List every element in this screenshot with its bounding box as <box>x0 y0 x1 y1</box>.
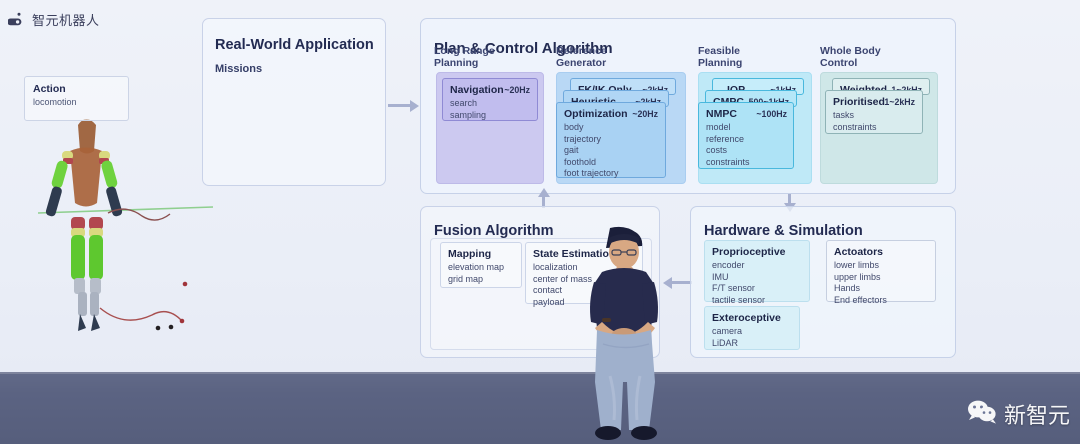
presentation-screenshot: 智元机器人 <box>0 0 1080 444</box>
arrow-realworld-to-plan-tip <box>410 100 419 112</box>
watermark-text: 新智元 <box>1004 398 1070 430</box>
column-heading-long-range-planning: Long Range Planning <box>434 46 495 70</box>
column-heading-feasible-planning: Feasible Planning <box>698 46 742 70</box>
card-exteroceptive-items: camera LiDAR <box>712 326 742 349</box>
presenter-person <box>572 226 680 444</box>
card-optimization-title: Optimization <box>564 108 628 120</box>
card-nmpc: NMPC ~100Hz model reference costs constr… <box>698 102 794 169</box>
hardware-title: Hardware & Simulation <box>704 223 863 239</box>
card-mapping-items: elevation map grid map <box>448 262 504 285</box>
card-nmpc-hz: ~100Hz <box>756 109 787 119</box>
card-navigation-hz: ~20Hz <box>504 85 530 95</box>
column-heading-reference-generator: Reference Generator <box>556 46 607 70</box>
card-actuators: Actoators lower limbs upper limbs Hands … <box>826 240 936 302</box>
card-proprioceptive-items: encoder IMU F/T sensor tactile sensor <box>712 260 765 306</box>
card-action-items: locomotion <box>33 97 77 107</box>
card-optimization-items: body trajectory gait foothold foot traje… <box>564 122 619 180</box>
card-nmpc-title: NMPC <box>706 108 737 120</box>
fusion-title: Fusion Algorithm <box>434 223 553 239</box>
arrow-fusion-to-plan-tip <box>538 188 550 197</box>
card-navigation-items: search sampling <box>450 98 486 121</box>
real-world-title: Real-World Application <box>215 37 374 53</box>
robot-skeleton-visualization <box>38 95 213 350</box>
card-prioritised-hz: 1~2kHz <box>884 97 915 107</box>
column-heading-whole-body-control: Whole Body Control <box>820 46 881 70</box>
wechat-icon <box>967 400 997 429</box>
card-actuators-items: lower limbs upper limbs Hands End effect… <box>834 260 887 306</box>
card-actuators-title: Actoators <box>834 246 883 258</box>
card-exteroceptive: Exteroceptive camera LiDAR <box>704 306 800 350</box>
arrow-realworld-to-plan <box>388 104 410 107</box>
channel-watermark: 新智元 <box>967 398 1070 430</box>
card-exteroceptive-title: Exteroceptive <box>712 312 781 324</box>
card-prioritised: Prioritised 1~2kHz tasks constraints <box>825 90 923 134</box>
card-optimization-hz: ~20Hz <box>632 109 658 119</box>
card-prioritised-title: Prioritised <box>833 96 885 108</box>
card-navigation-title: Navigation <box>450 84 504 96</box>
card-action-title: Action <box>33 83 66 95</box>
card-proprioceptive-title: Proprioceptive <box>712 246 786 258</box>
missions-label: Missions <box>215 63 262 75</box>
card-navigation: Navigation ~20Hz search sampling <box>442 78 538 121</box>
card-mapping: Mapping elevation map grid map <box>440 242 522 288</box>
brand-logo: 智元机器人 <box>8 10 100 29</box>
card-action: Action locomotion <box>24 76 129 121</box>
stage-floor <box>0 372 1080 444</box>
card-nmpc-items: model reference costs constraints <box>706 122 750 168</box>
brand-name: 智元机器人 <box>32 10 100 29</box>
card-prioritised-items: tasks constraints <box>833 110 877 133</box>
card-proprioceptive: Proprioceptive encoder IMU F/T sensor ta… <box>704 240 810 302</box>
agibot-logo-icon <box>8 11 25 28</box>
panel-real-world-application: Real-World Application Missions <box>202 18 386 186</box>
card-mapping-title: Mapping <box>448 248 491 260</box>
card-optimization: Optimization ~20Hz body trajectory gait … <box>556 102 666 178</box>
